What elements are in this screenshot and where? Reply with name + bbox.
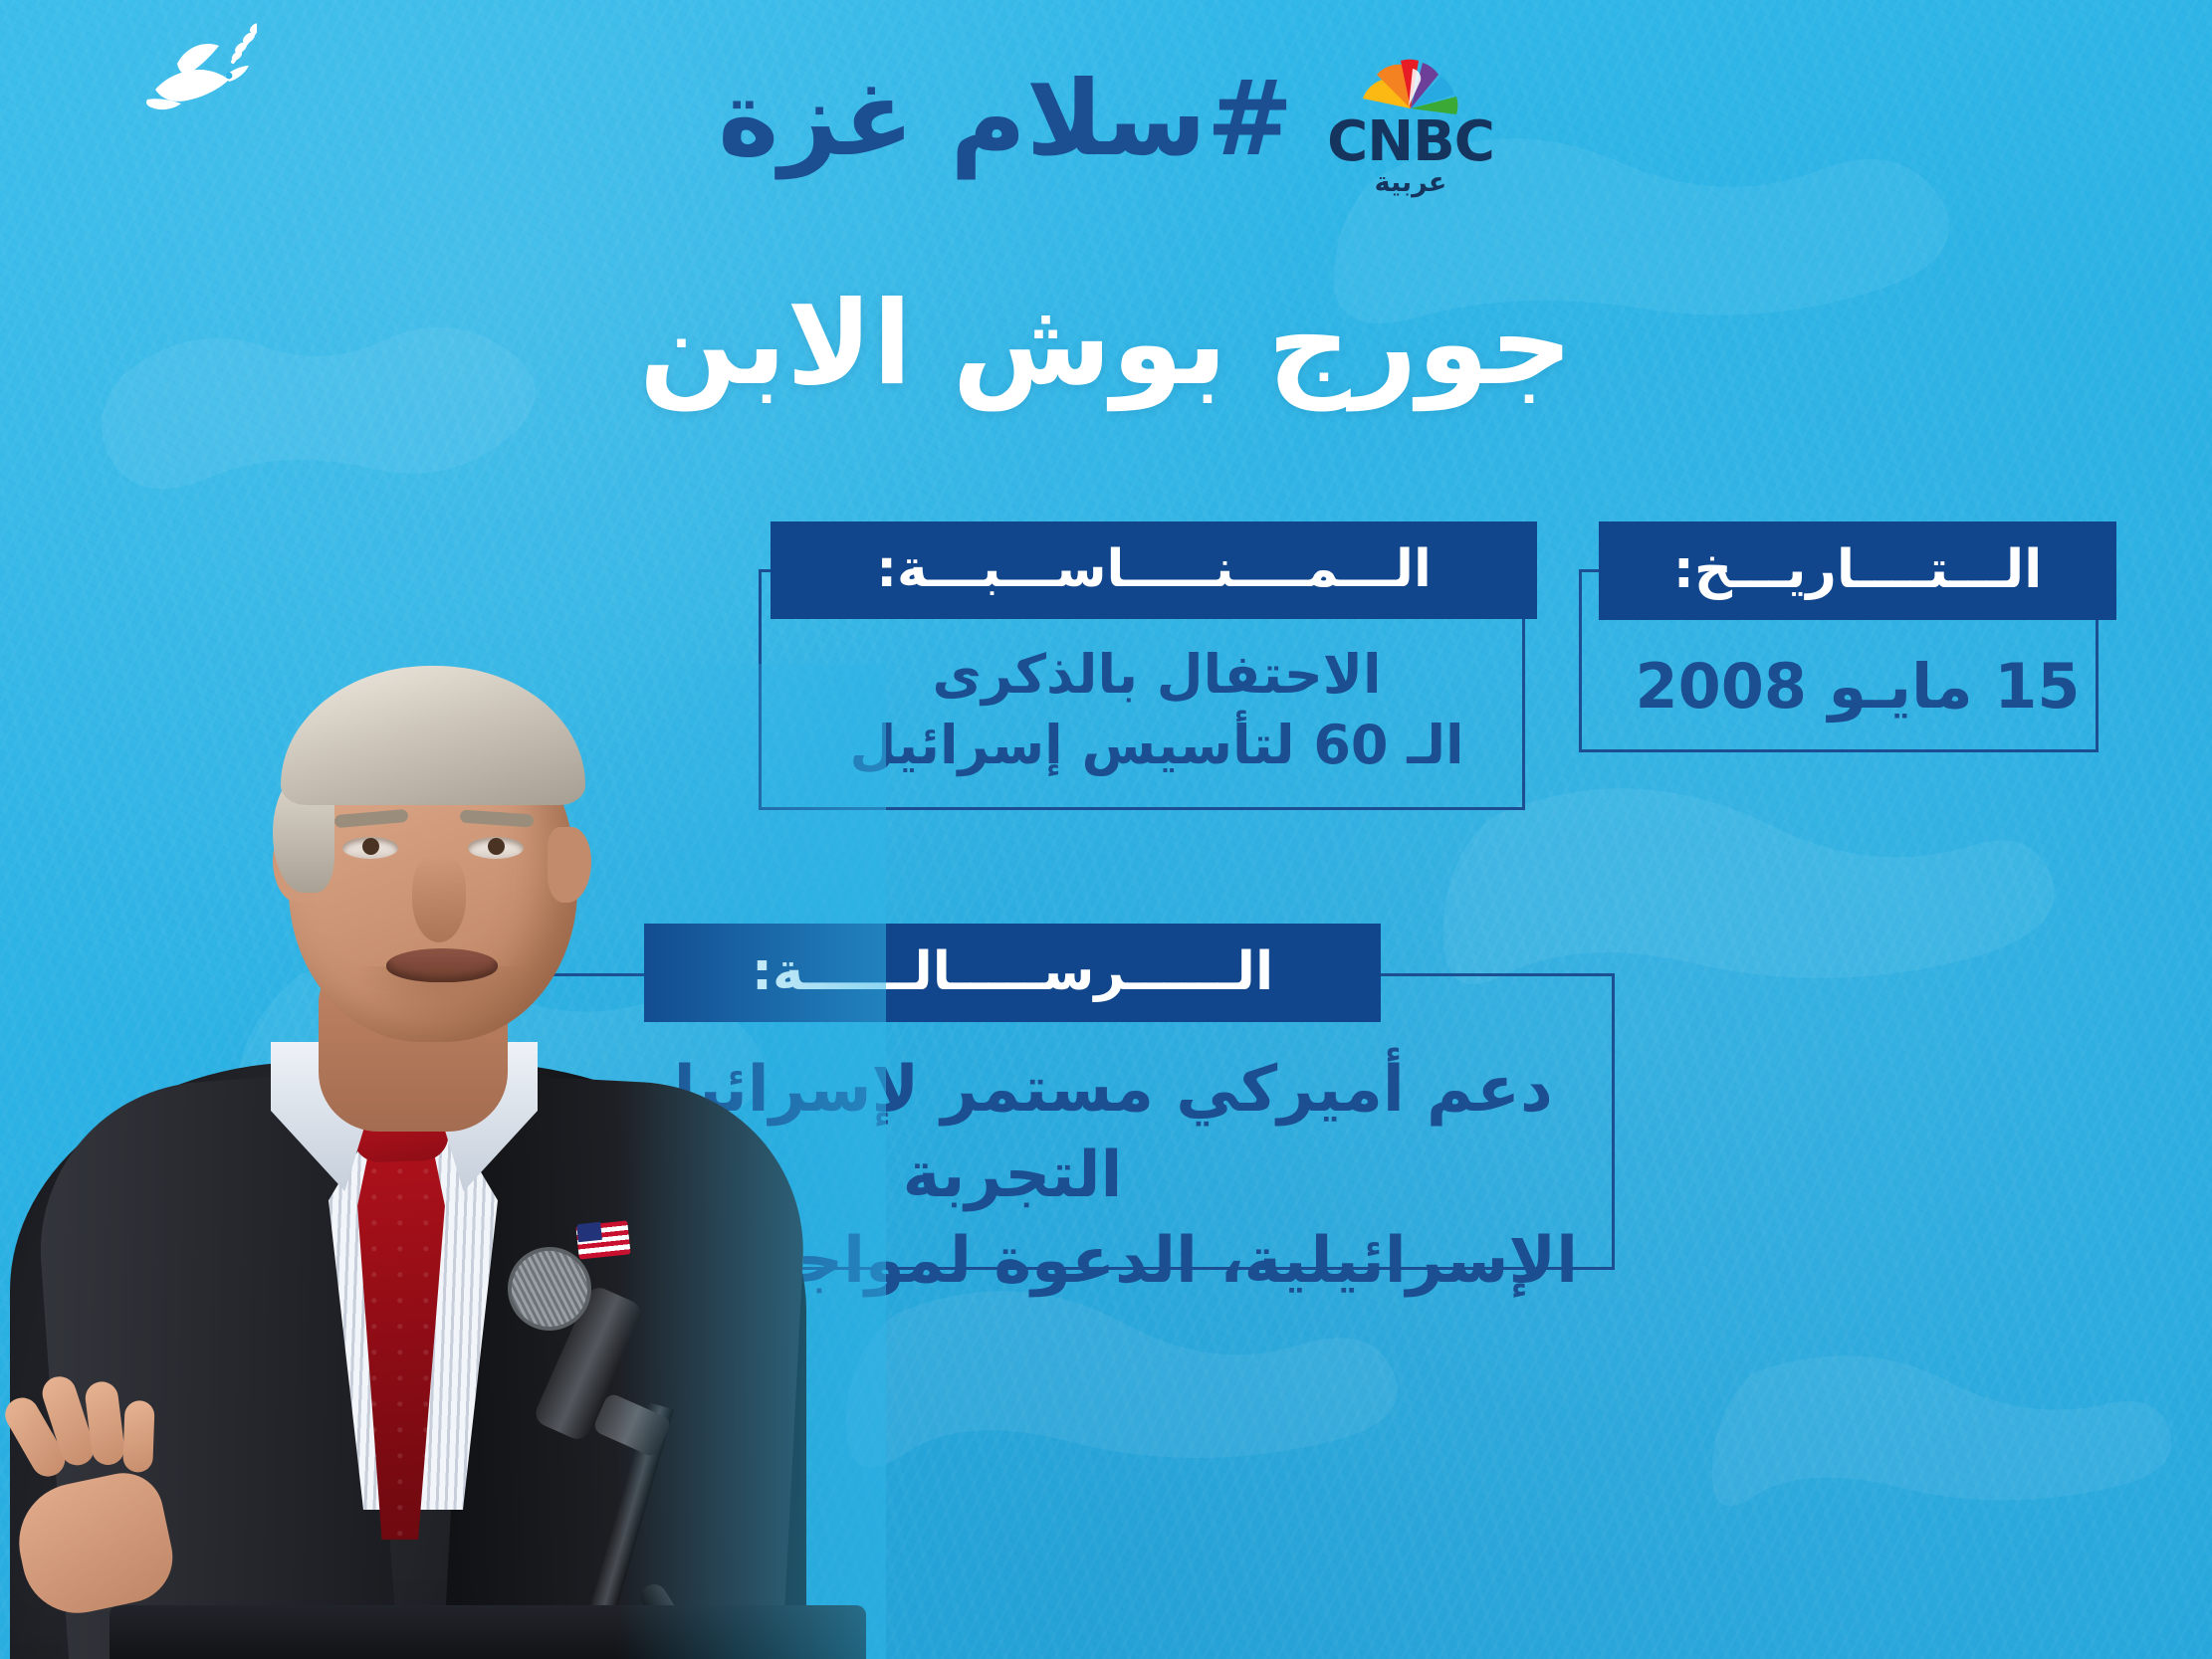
subject-photo: [0, 664, 886, 1659]
finger: [122, 1400, 154, 1473]
hashtag-label: #سلام غزة: [718, 67, 1293, 170]
card-value-date: 15 مايـو 2008: [1579, 620, 2136, 727]
chin-shadow: [358, 966, 526, 1024]
us-flag-canton: [576, 1222, 602, 1242]
card-label-date: الـــتــــاريـــخ:: [1599, 521, 2116, 620]
pupil-left: [362, 838, 379, 855]
cnbc-arabic-name: عربية: [1375, 169, 1447, 196]
pupil-right: [488, 838, 505, 855]
cnbc-arabia-logo: CNBC عربية: [1327, 41, 1494, 197]
hair: [281, 666, 585, 805]
cnbc-peacock-logo-icon: [1355, 47, 1466, 114]
infographic-poster: #سلام غزة: [0, 0, 2212, 1659]
header-row: #سلام غزة: [0, 44, 2212, 193]
cnbc-wordmark: CNBC: [1327, 116, 1494, 168]
nose: [412, 855, 466, 942]
page-title: جورج بوش الابن: [0, 287, 2212, 402]
podium: [110, 1605, 866, 1659]
info-card-date: الـــتــــاريـــخ: 15 مايـو 2008: [1579, 521, 2136, 752]
ear-right: [548, 827, 591, 903]
campaign-hashtag: #سلام غزة: [718, 67, 1293, 170]
card-label-occasion: الـــمــــنـــــاســـبـــة:: [771, 521, 1537, 619]
